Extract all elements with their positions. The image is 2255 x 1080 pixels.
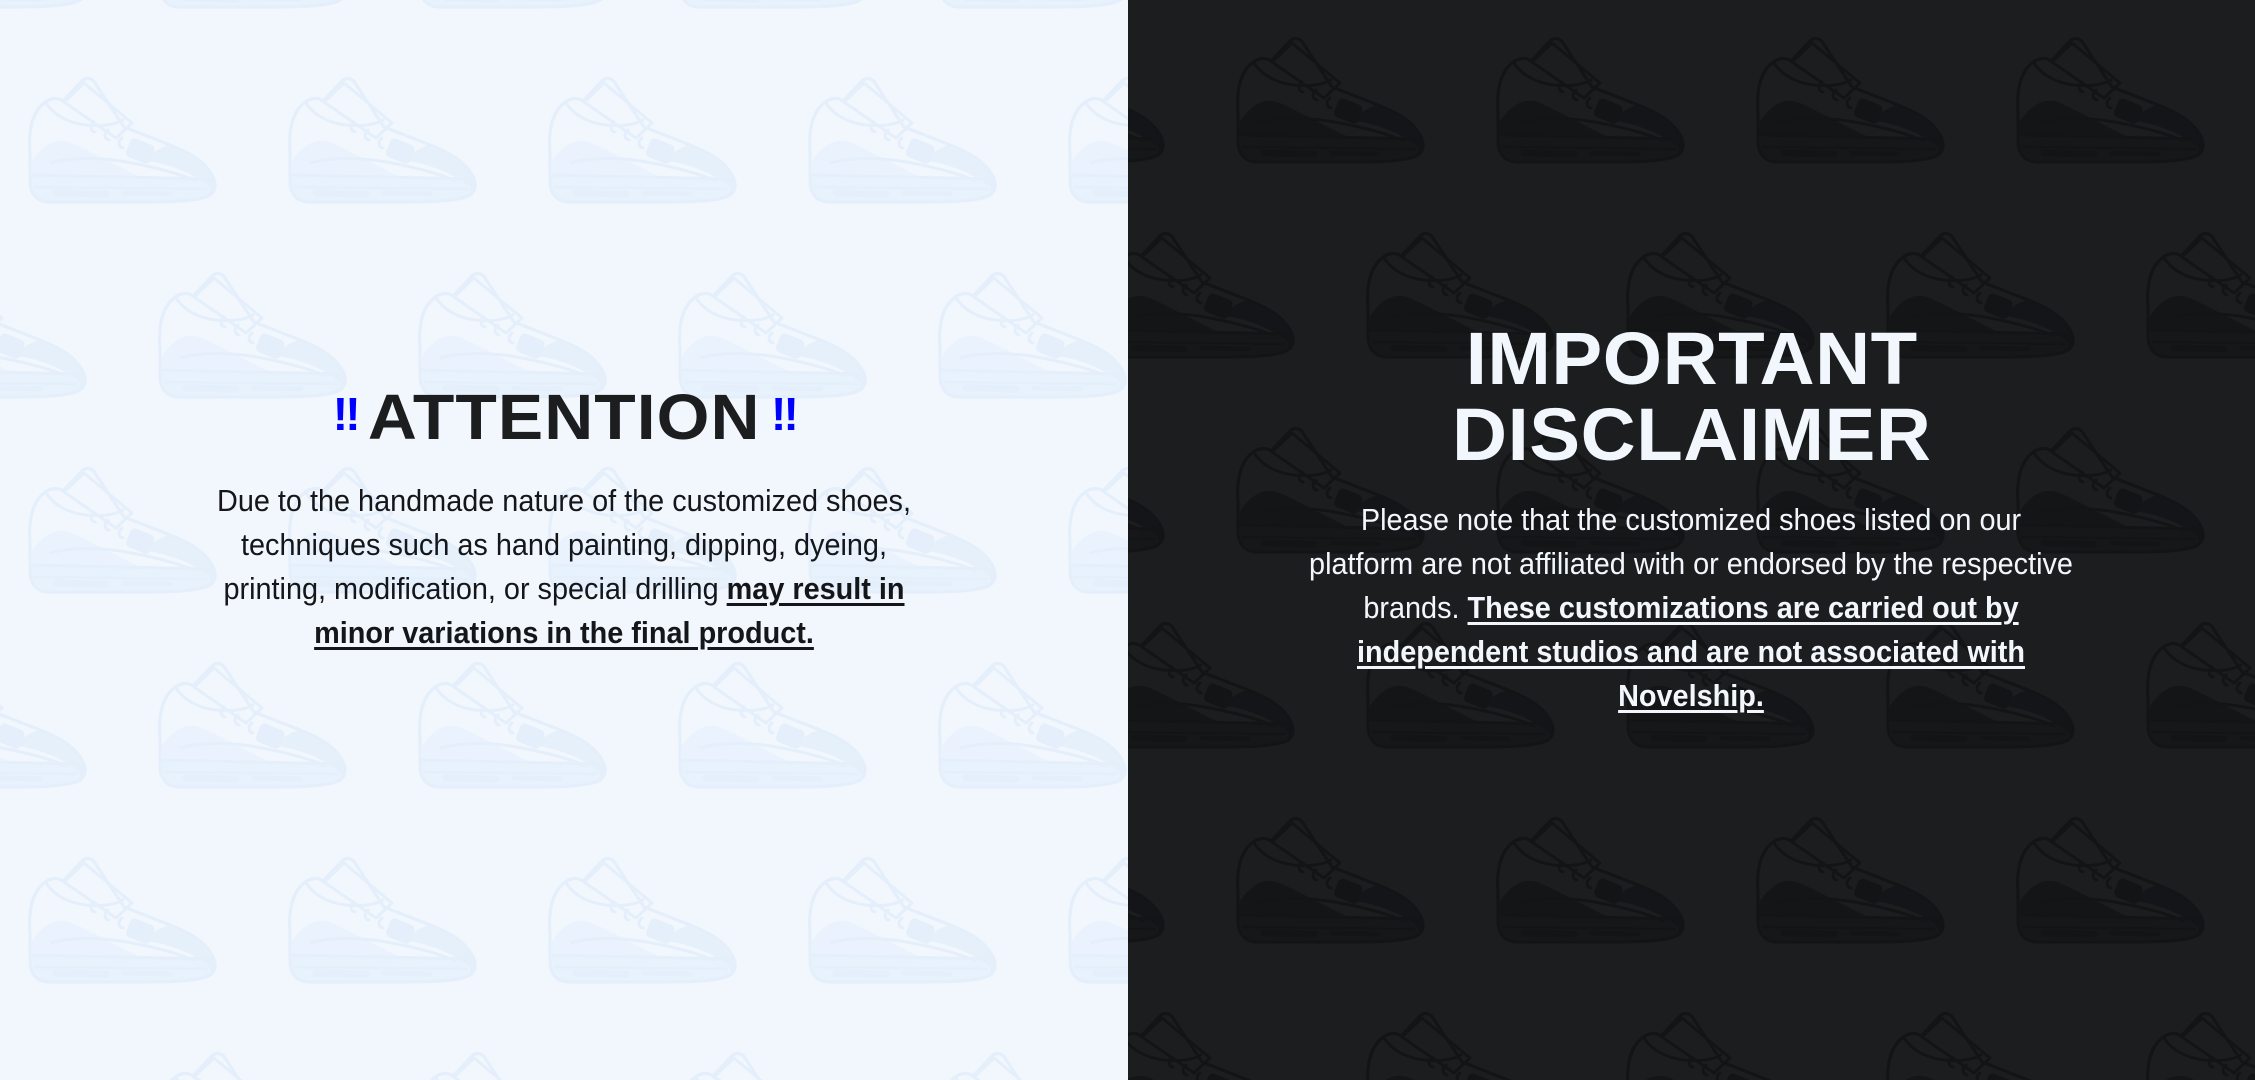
two-panel-banner: ‼ ATTENTION ‼ Due to the handmade nature… (0, 0, 2255, 1080)
attention-heading: ‼ ATTENTION ‼ (40, 385, 1088, 449)
disclaimer-panel: IMPORTANT DISCLAIMER Please note that th… (1128, 0, 2255, 1080)
disclaimer-heading: IMPORTANT DISCLAIMER (1152, 321, 2231, 472)
disclaimer-body: Please note that the customized shoes li… (1305, 498, 2077, 718)
disclaimer-heading-line-2: DISCLAIMER (1152, 397, 2231, 472)
attention-content: ‼ ATTENTION ‼ Due to the handmade nature… (0, 385, 1128, 655)
attention-body: Due to the handmade nature of the custom… (192, 479, 936, 655)
double-exclamation-icon-right: ‼ (771, 391, 795, 437)
attention-panel: ‼ ATTENTION ‼ Due to the handmade nature… (0, 0, 1128, 1080)
disclaimer-heading-line-1: IMPORTANT (1152, 321, 2231, 396)
double-exclamation-icon-left: ‼ (333, 391, 357, 437)
attention-heading-text: ATTENTION (367, 385, 760, 449)
disclaimer-content: IMPORTANT DISCLAIMER Please note that th… (1128, 321, 2255, 718)
